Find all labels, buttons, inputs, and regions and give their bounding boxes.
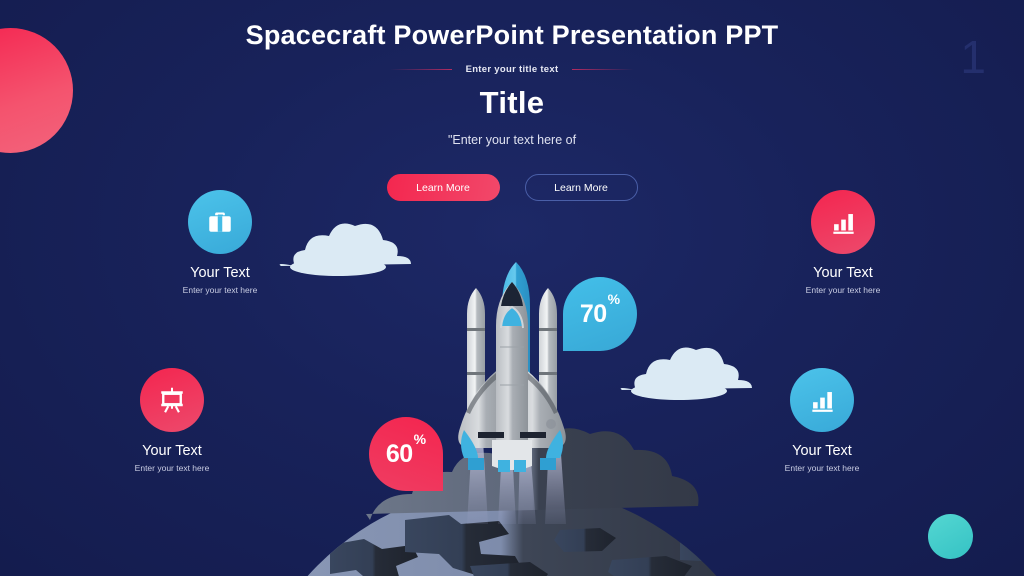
- feature-icon-circle: [188, 190, 252, 254]
- feature-title: Your Text: [742, 443, 902, 459]
- feature-subtitle: Enter your text here: [92, 463, 252, 473]
- learn-more-primary-button[interactable]: Learn More: [387, 174, 500, 201]
- cloud-icon-right: [621, 348, 752, 400]
- feature-item-bottom-right[interactable]: Your Text Enter your text here: [742, 368, 902, 473]
- feature-title: Your Text: [763, 265, 923, 281]
- feature-title: Your Text: [140, 265, 300, 281]
- bar-chart-icon: [829, 208, 858, 237]
- feature-icon-circle: [140, 368, 204, 432]
- stat-value: 60: [386, 440, 413, 469]
- space-shuttle-icon: [458, 262, 566, 472]
- learn-more-outline-button[interactable]: Learn More: [525, 174, 638, 201]
- feature-item-top-right[interactable]: Your Text Enter your text here: [763, 190, 923, 295]
- stat-bubble-60: 60%: [369, 417, 443, 491]
- briefcase-icon: [205, 207, 235, 237]
- presentation-slide: 1: [0, 0, 1024, 576]
- decorative-circle-teal: [928, 514, 973, 559]
- rocket-exhaust: [467, 440, 566, 524]
- feature-item-top-left[interactable]: Your Text Enter your text here: [140, 190, 300, 295]
- stat-unit: %: [414, 431, 426, 447]
- bar-chart-icon: [808, 386, 837, 415]
- feature-subtitle: Enter your text here: [140, 285, 300, 295]
- feature-item-bottom-left[interactable]: Your Text Enter your text here: [92, 368, 252, 473]
- presentation-board-icon: [157, 385, 187, 415]
- lead-text: "Enter your text here of: [0, 133, 1024, 147]
- feature-subtitle: Enter your text here: [742, 463, 902, 473]
- stat-value: 70: [580, 300, 607, 329]
- feature-title: Your Text: [92, 443, 252, 459]
- page-title: Title: [0, 85, 1024, 121]
- subtitle-text: Enter your title text: [466, 64, 559, 75]
- subtitle-row: Enter your title text: [0, 61, 1024, 77]
- feature-subtitle: Enter your text here: [763, 285, 923, 295]
- divider-left: [390, 69, 452, 70]
- divider-right: [572, 69, 634, 70]
- feature-icon-circle: [811, 190, 875, 254]
- slide-header: Spacecraft PowerPoint Presentation PPT E…: [0, 0, 1024, 147]
- stat-bubble-70: 70%: [563, 277, 637, 351]
- stat-unit: %: [608, 291, 620, 307]
- main-title: Spacecraft PowerPoint Presentation PPT: [0, 0, 1024, 51]
- feature-icon-circle: [790, 368, 854, 432]
